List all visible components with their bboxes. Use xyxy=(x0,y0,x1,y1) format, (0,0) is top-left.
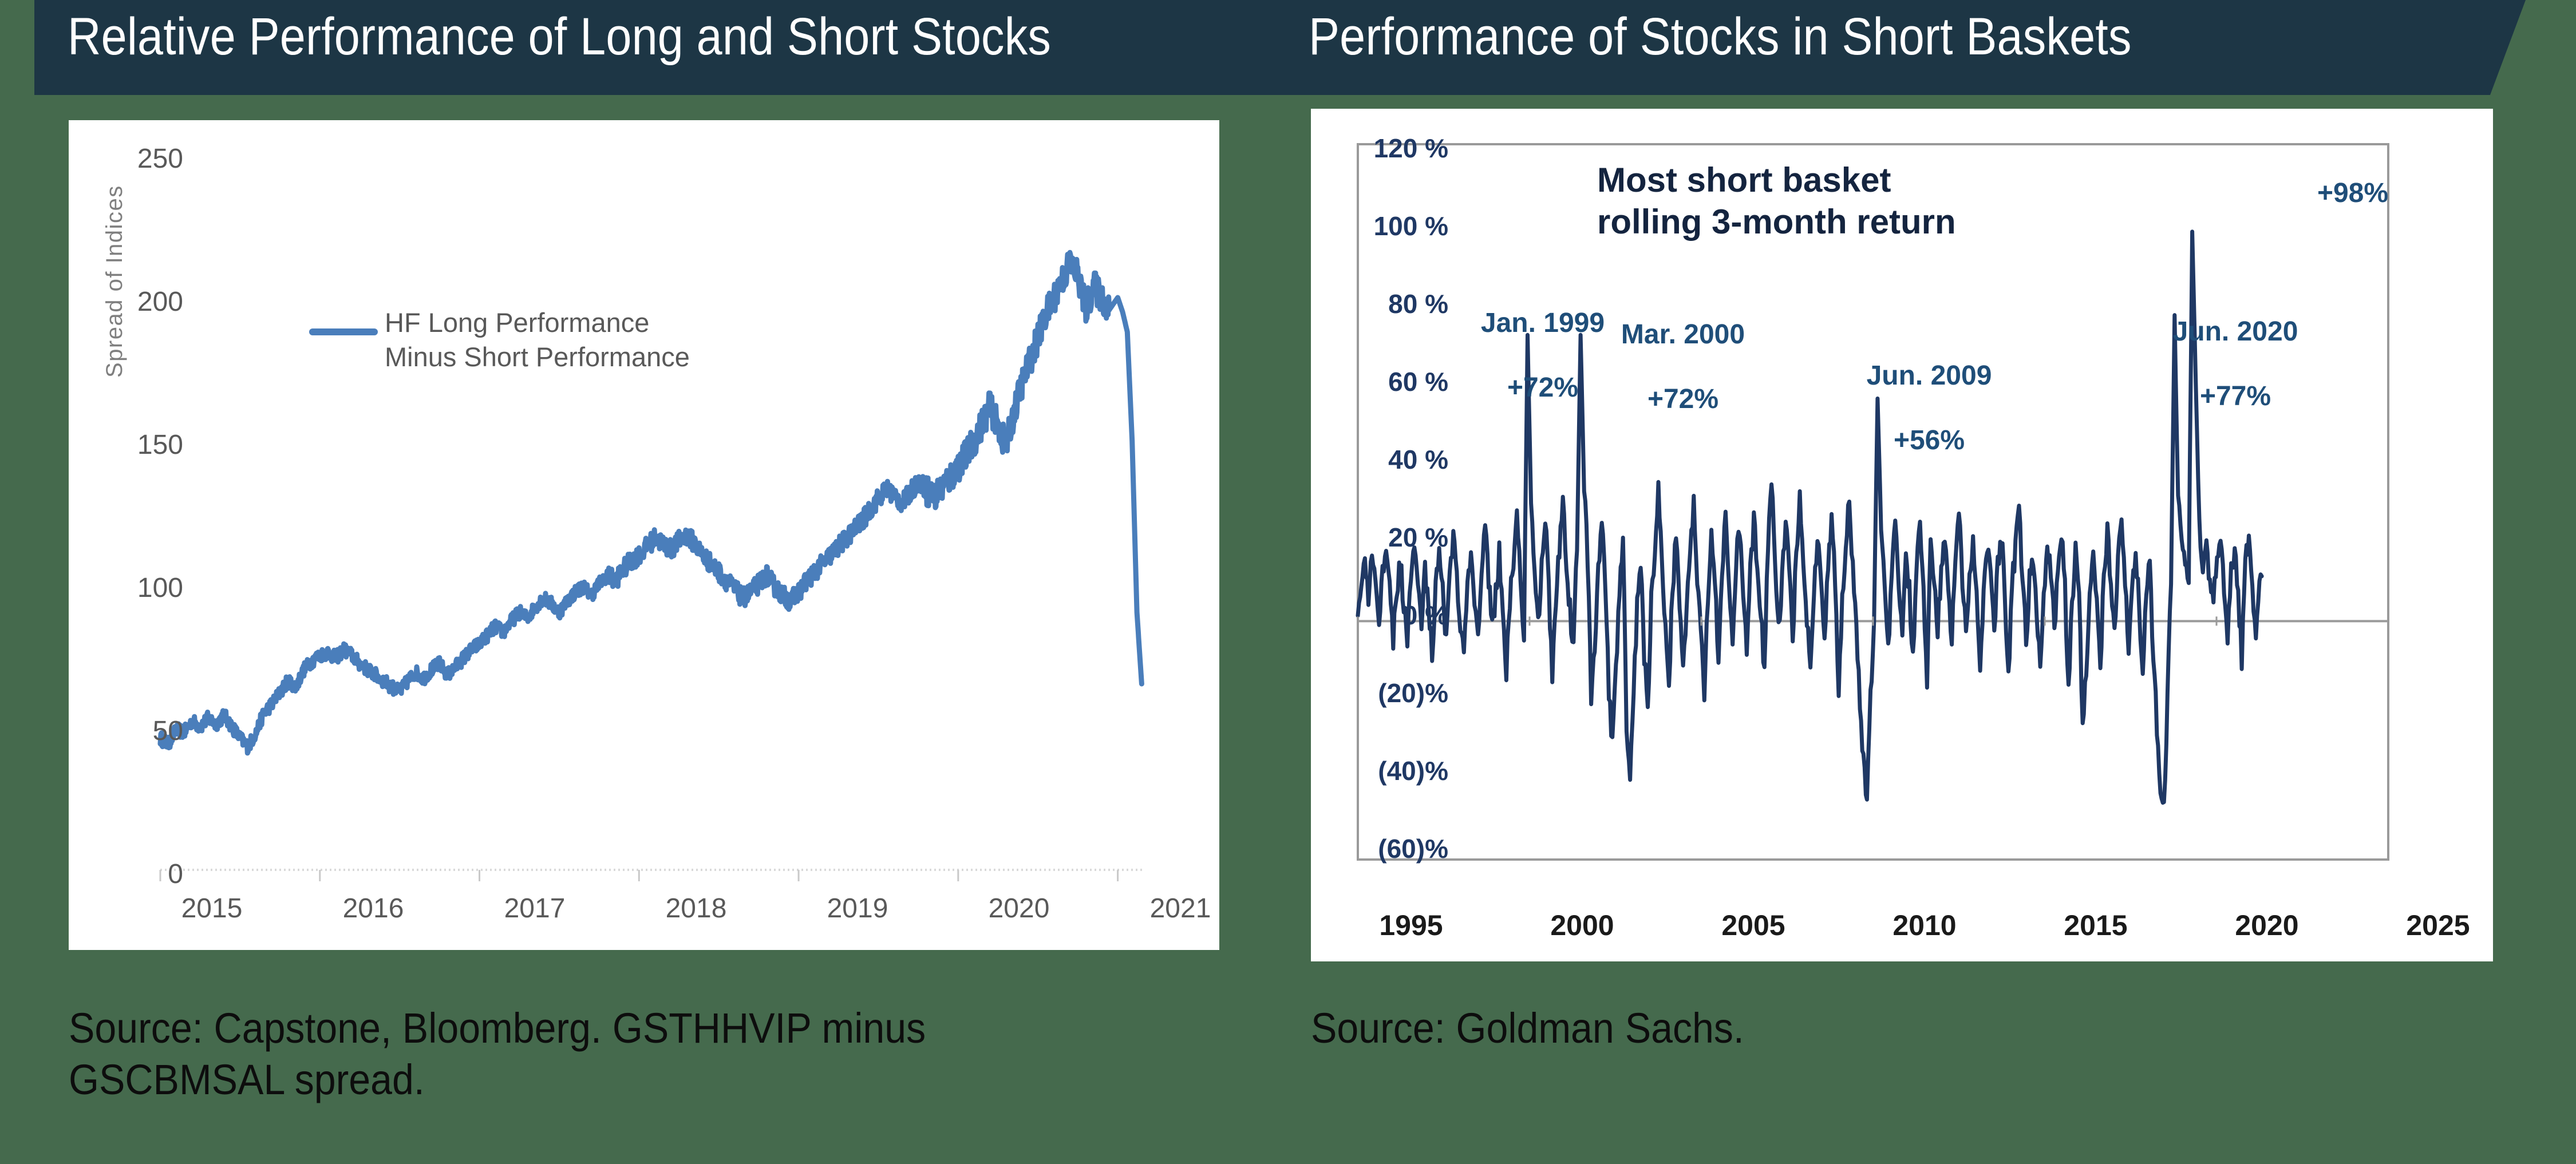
left-chart-ytick-50: 50 xyxy=(97,715,183,747)
header-notch-shape xyxy=(2490,0,2526,95)
left-chart-source-caption: Source: Capstone, Bloomberg. GSTHHVIP mi… xyxy=(69,1003,1069,1106)
annotation-mar-2000: Mar. 2000 +72% xyxy=(1586,286,1780,416)
right-chart-xtick-2020: 2020 xyxy=(2204,909,2330,942)
right-chart-ytick-neg60: (60)% xyxy=(1317,833,1448,864)
left-chart-legend-swatch xyxy=(309,328,378,335)
left-chart-xtick-2020: 2020 xyxy=(962,893,1076,924)
page-title-right: Performance of Stocks in Short Baskets xyxy=(1309,7,2132,67)
annotation-jan-1999-value: +72% xyxy=(1507,373,1578,403)
right-chart-xtick-2025: 2025 xyxy=(2375,909,2501,942)
right-chart-source-caption: Source: Goldman Sachs. xyxy=(1311,1003,2206,1054)
annotation-jun-2020: Jun. 2020 +77% xyxy=(2138,283,2333,413)
right-chart-ytick-40: 40 % xyxy=(1317,444,1448,475)
annotation-mar-2000-value: +72% xyxy=(1647,384,1718,414)
right-chart-xtick-1995: 1995 xyxy=(1348,909,1474,942)
annotation-mar-2000-label: Mar. 2000 xyxy=(1621,319,1745,350)
right-chart-ytick-0: 0 % xyxy=(1317,600,1448,631)
left-chart-xtick-2019: 2019 xyxy=(800,893,915,924)
annotation-jun-2009: Jun. 2009 +56% xyxy=(1832,327,2026,457)
right-chart-title: Most short basket rolling 3-month return xyxy=(1597,159,1956,243)
left-chart-xtick-2015: 2015 xyxy=(155,893,269,924)
left-chart-plot xyxy=(69,120,1219,950)
left-chart-ytick-100: 100 xyxy=(97,572,183,604)
right-chart-ytick-neg40: (40)% xyxy=(1317,755,1448,786)
left-chart-legend-label: HF Long Performance Minus Short Performa… xyxy=(385,306,690,374)
left-chart-ytick-0: 0 xyxy=(97,858,183,890)
right-chart-ytick-20: 20 % xyxy=(1317,522,1448,553)
right-chart-ytick-neg20: (20)% xyxy=(1317,678,1448,708)
annotation-jun-2009-value: +56% xyxy=(1894,425,1965,456)
page-title-left: Relative Performance of Long and Short S… xyxy=(68,7,1051,67)
left-chart-ytick-150: 150 xyxy=(97,429,183,461)
left-chart-ytick-250: 250 xyxy=(97,143,183,175)
right-chart-xtick-2010: 2010 xyxy=(1862,909,1988,942)
right-chart-xtick-2000: 2000 xyxy=(1519,909,1645,942)
right-chart-ytick-80: 80 % xyxy=(1317,288,1448,319)
left-chart-card xyxy=(69,120,1219,950)
right-chart-ytick-100: 100 % xyxy=(1317,211,1448,241)
right-chart-ytick-120: 120 % xyxy=(1317,133,1448,164)
annotation-jun-2020-value: +77% xyxy=(2200,381,2271,411)
annotation-jun-2020-label: Jun. 2020 xyxy=(2173,316,2298,347)
annotation-peak-98: +98% xyxy=(2267,177,2439,210)
right-chart-xtick-2005: 2005 xyxy=(1690,909,1816,942)
right-chart-ytick-60: 60 % xyxy=(1317,366,1448,397)
left-chart-xtick-2021: 2021 xyxy=(1123,893,1238,924)
right-chart-xtick-2015: 2015 xyxy=(2033,909,2159,942)
annotation-jun-2009-label: Jun. 2009 xyxy=(1867,361,1992,391)
left-chart-ytick-200: 200 xyxy=(97,286,183,318)
slide-canvas: Relative Performance of Long and Short S… xyxy=(0,0,2576,1161)
left-chart-y-axis-label: Spread of Indices xyxy=(102,185,128,378)
left-chart-xtick-2017: 2017 xyxy=(477,893,592,924)
left-chart-xtick-2016: 2016 xyxy=(316,893,430,924)
left-chart-xtick-2018: 2018 xyxy=(639,893,753,924)
